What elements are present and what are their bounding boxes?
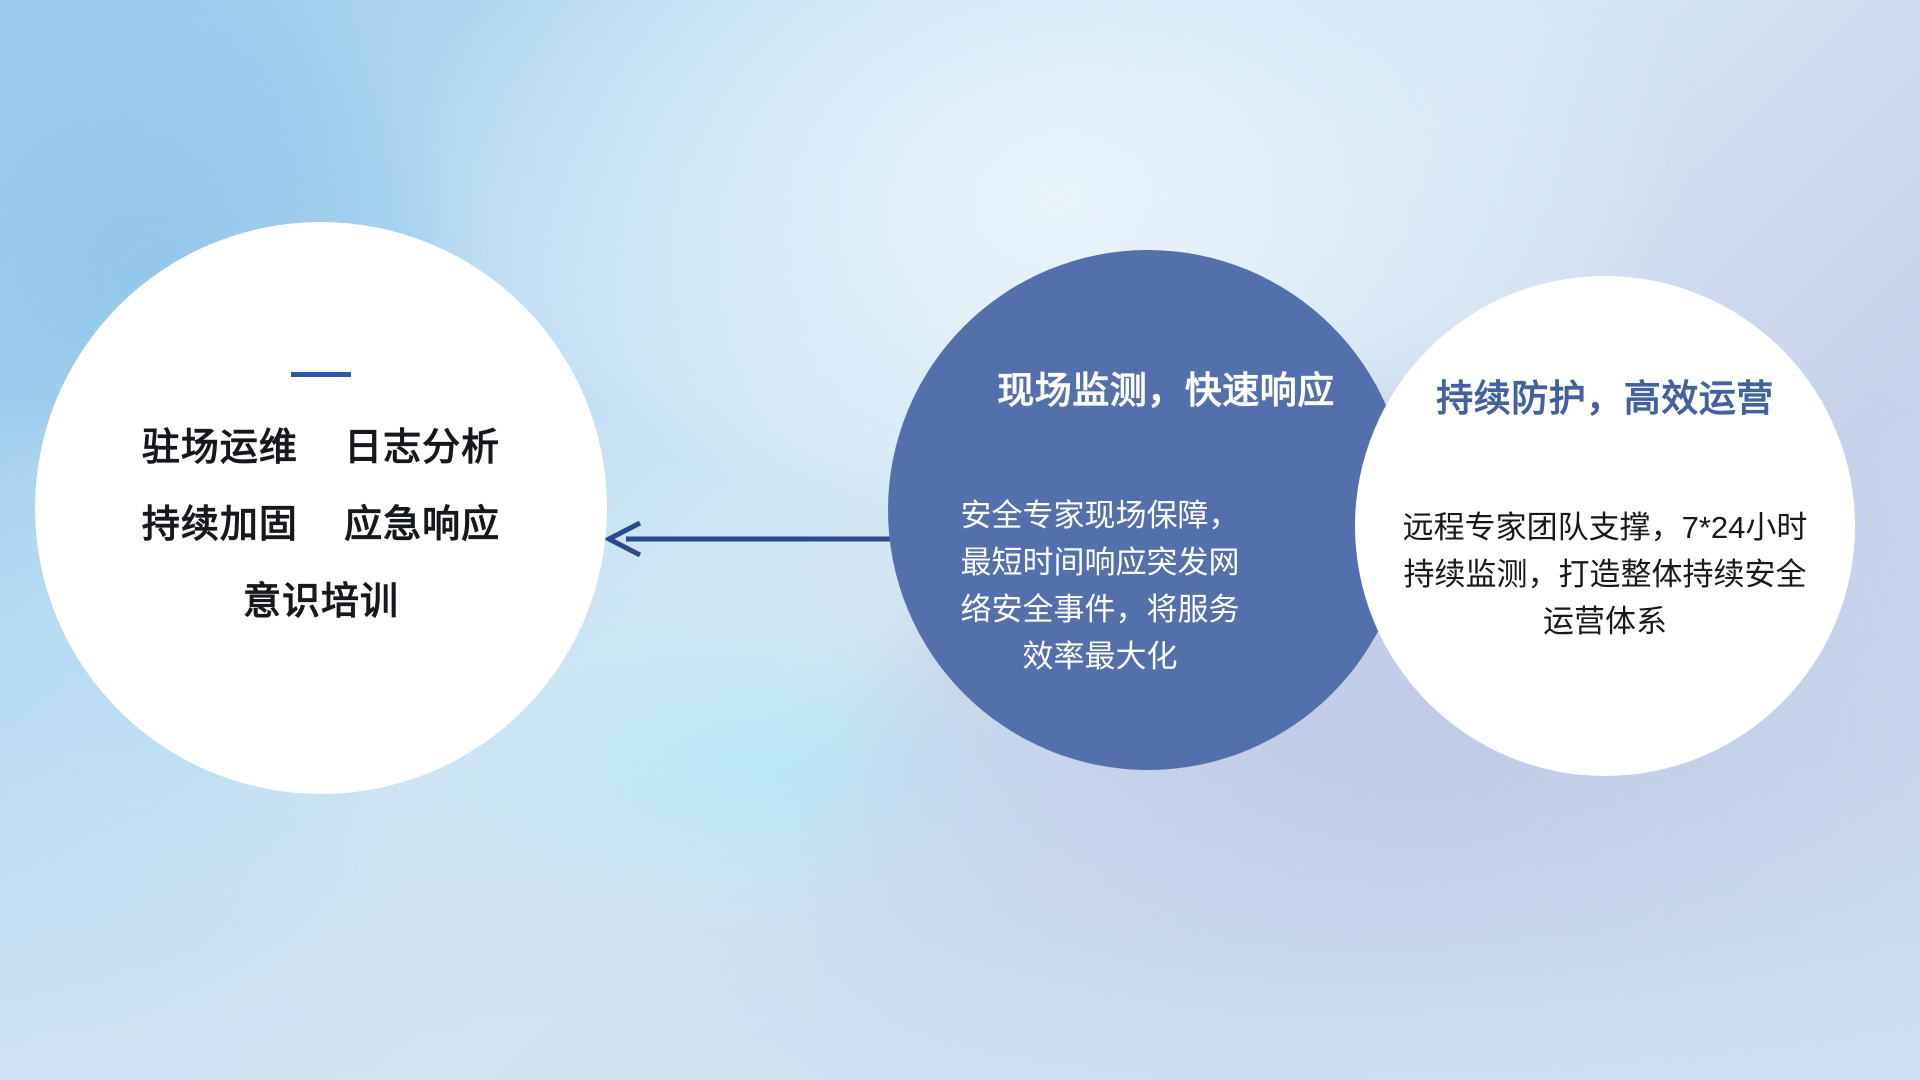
service-row: 驻场运维 日志分析 [35, 429, 607, 467]
onsite-content: 现场监测，快速响应 安全专家现场保障，最短时间响应突发网络安全事件，将服务效率最… [888, 360, 1408, 680]
arrow-left-icon [596, 516, 896, 562]
service-row: 意识培训 [35, 583, 607, 621]
onsite-monitoring-circle[interactable]: 现场监测，快速响应 安全专家现场保障，最短时间响应突发网络安全事件，将服务效率最… [888, 250, 1408, 770]
horizontal-rule-icon [291, 372, 351, 377]
continuous-protection-circle[interactable]: 持续防护，高效运营 远程专家团队支撑，7*24小时持续监测，打造整体持续安全运营… [1355, 276, 1855, 776]
continuous-body-text: 远程专家团队支撑，7*24小时持续监测，打造整体持续安全运营体系 [1400, 504, 1810, 645]
slide-canvas: 驻场运维 日志分析 持续加固 应急响应 意识培训 现场监测，快速响应 安全专家现… [0, 0, 1920, 1080]
onsite-heading: 现场监测，快速响应 [948, 360, 1384, 414]
services-content: 驻场运维 日志分析 持续加固 应急响应 意识培训 [35, 372, 607, 621]
continuous-heading: 持续防护，高效运营 [1377, 368, 1833, 422]
background-bottom-fade [0, 750, 1920, 1080]
services-circle[interactable]: 驻场运维 日志分析 持续加固 应急响应 意识培训 [35, 222, 607, 794]
continuous-content: 持续防护，高效运营 远程专家团队支撑，7*24小时持续监测，打造整体持续安全运营… [1355, 368, 1855, 645]
service-row: 持续加固 应急响应 [35, 506, 607, 544]
onsite-body-text: 安全专家现场保障，最短时间响应突发网络安全事件，将服务效率最大化 [950, 492, 1250, 680]
